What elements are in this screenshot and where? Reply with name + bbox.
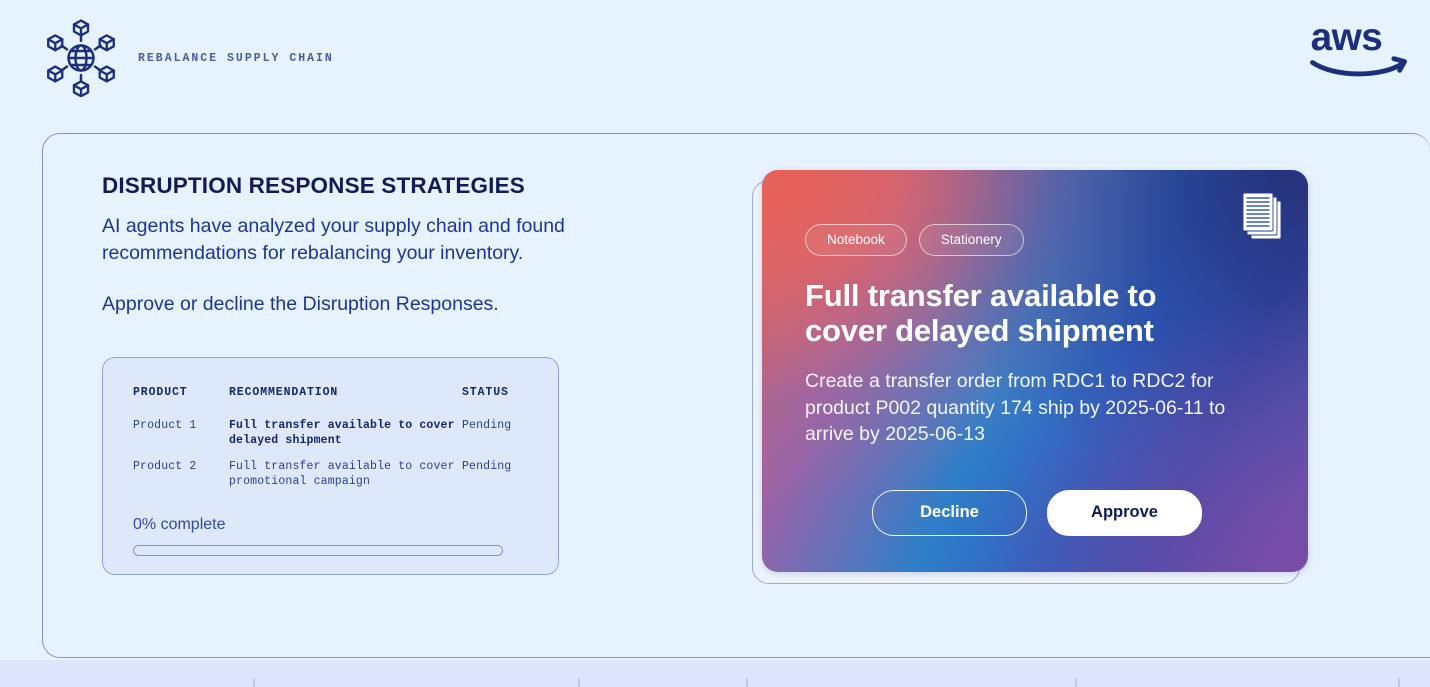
- svg-text:aws: aws: [1311, 17, 1383, 59]
- card-tag-row: Notebook Stationery: [805, 224, 1024, 256]
- tick-mark: [578, 678, 580, 687]
- supply-chain-network-icon: [42, 19, 120, 97]
- decline-button[interactable]: Decline: [872, 490, 1027, 536]
- bottom-tick-marks: [0, 663, 1430, 687]
- intro-column: DISRUPTION RESPONSE STRATEGIES AI agents…: [102, 173, 702, 318]
- card-tag-notebook[interactable]: Notebook: [805, 224, 907, 256]
- column-header-product: PRODUCT: [133, 386, 229, 419]
- brand-name: REBALANCE SUPPLY CHAIN: [138, 52, 334, 65]
- recommendations-table: PRODUCT RECOMMENDATION STATUS Product 1 …: [133, 386, 538, 501]
- page-title: DISRUPTION RESPONSE STRATEGIES: [102, 173, 702, 199]
- cell-status: Pending: [462, 419, 538, 460]
- table-header-row: PRODUCT RECOMMENDATION STATUS: [133, 386, 538, 419]
- recommendations-table-card: PRODUCT RECOMMENDATION STATUS Product 1 …: [102, 357, 559, 575]
- approve-button[interactable]: Approve: [1047, 490, 1202, 536]
- brand-lockup: REBALANCE SUPPLY CHAIN: [42, 19, 334, 97]
- column-header-recommendation: RECOMMENDATION: [229, 386, 462, 419]
- intro-paragraph-2: Approve or decline the Disruption Respon…: [102, 291, 702, 318]
- page-header: REBALANCE SUPPLY CHAIN aws: [0, 0, 1430, 118]
- card-actions: Decline Approve: [872, 490, 1202, 536]
- cell-product: Product 1: [133, 419, 229, 460]
- column-header-status: STATUS: [462, 386, 538, 419]
- cell-recommendation: Full transfer available to cover promoti…: [229, 460, 462, 501]
- cell-product: Product 2: [133, 460, 229, 501]
- tick-mark: [253, 678, 255, 687]
- stacked-documents-icon: [1239, 191, 1285, 243]
- table-row[interactable]: Product 2 Full transfer available to cov…: [133, 460, 538, 501]
- card-title: Full transfer available to cover delayed…: [805, 278, 1225, 349]
- progress-section: 0% complete: [133, 516, 503, 556]
- tick-mark: [746, 678, 748, 687]
- table-row[interactable]: Product 1 Full transfer available to cov…: [133, 419, 538, 460]
- tick-mark: [1075, 678, 1077, 687]
- cell-recommendation: Full transfer available to cover delayed…: [229, 419, 462, 460]
- progress-bar: [133, 545, 503, 556]
- recommendation-card[interactable]: Notebook Stationery Full transfer availa…: [762, 170, 1308, 572]
- progress-label: 0% complete: [133, 516, 503, 534]
- tick-mark: [1398, 678, 1400, 687]
- card-tag-stationery[interactable]: Stationery: [919, 224, 1024, 256]
- cell-status: Pending: [462, 460, 538, 501]
- intro-paragraph-1: AI agents have analyzed your supply chai…: [102, 213, 702, 266]
- recommendation-card-stack: Notebook Stationery Full transfer availa…: [752, 170, 1308, 584]
- aws-logo-icon: aws: [1310, 17, 1408, 79]
- card-description: Create a transfer order from RDC1 to RDC…: [805, 368, 1275, 448]
